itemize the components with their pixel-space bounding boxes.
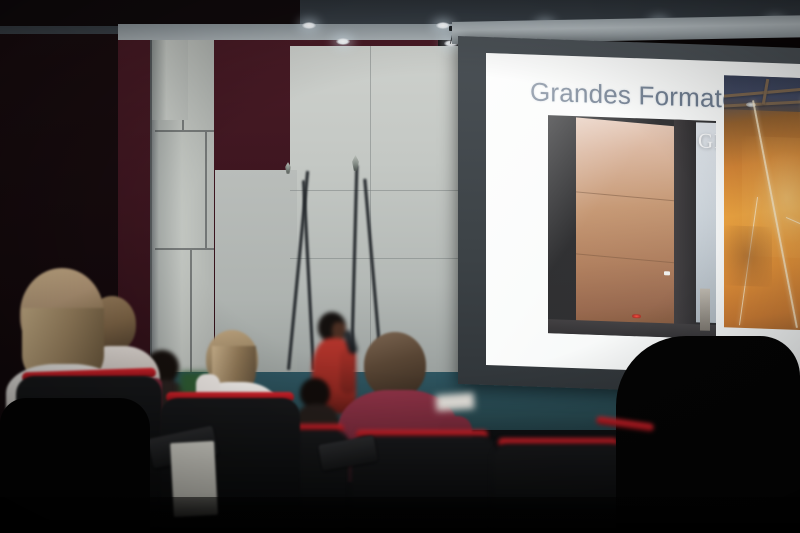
ceiling-light: [302, 22, 316, 29]
slab-side-shadow: [674, 119, 696, 337]
gran-overlay-text: GRAN: [698, 128, 716, 155]
wall-seam: [290, 190, 465, 191]
slide-photo-amber-marble: [724, 75, 800, 331]
presenter-arm: [340, 348, 356, 394]
auditorium-scene: Grandes Formatos GRAN: [0, 0, 800, 533]
panel-seam: [205, 132, 207, 248]
attendee-head: [364, 332, 426, 398]
slab-red-indicator: [632, 314, 641, 318]
panel-seam: [155, 248, 214, 250]
slab-edge-light: [664, 271, 670, 275]
slide-title: Grandes Formatos: [530, 77, 750, 116]
paper-on-tablet: [435, 393, 474, 412]
ceiling-light: [436, 22, 450, 29]
projected-slide: Grandes Formatos GRAN: [486, 53, 800, 376]
ceiling-dark-section: [0, 0, 300, 26]
marble-dark-patch: [724, 225, 772, 287]
ceiling-light: [336, 38, 350, 45]
slide-photo-copper-slab: GRAN: [548, 115, 716, 339]
warehouse-truss: [724, 75, 800, 113]
wall-seam: [370, 46, 371, 376]
truss-beam: [724, 84, 800, 99]
foreground-shadow: [0, 497, 800, 533]
wall-seam: [290, 258, 465, 259]
showroom-fixture: [700, 288, 710, 330]
copper-slab-face: [576, 117, 674, 334]
ceiling-soffit: [118, 24, 458, 40]
